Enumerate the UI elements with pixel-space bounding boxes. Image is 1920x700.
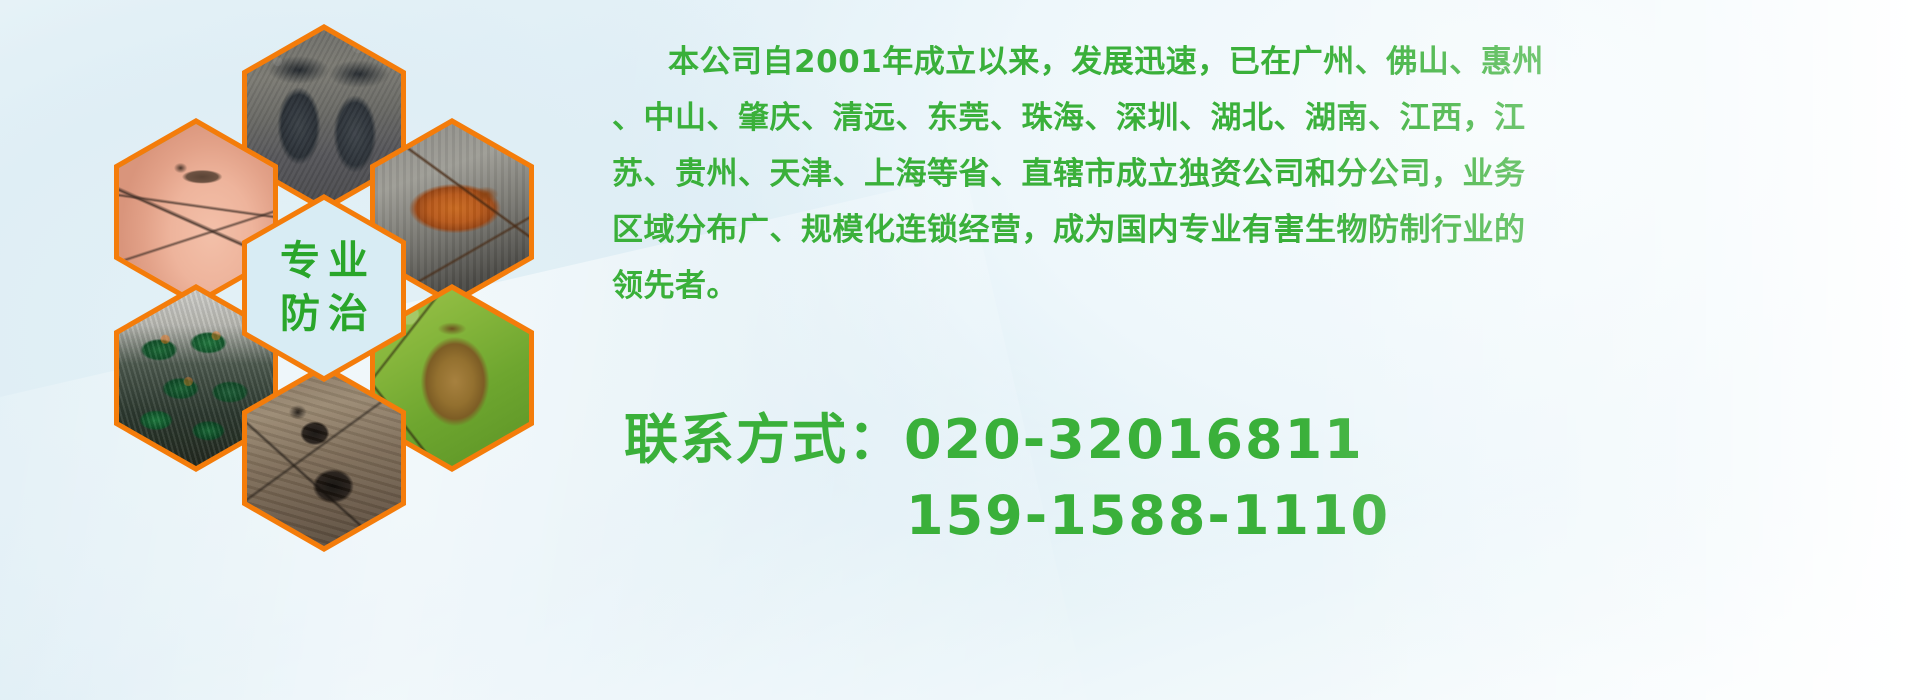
about-line-5: 领先者。	[612, 258, 1912, 314]
contact-block: 联系方式：020-32016811 159-1588-1110	[624, 402, 1804, 554]
pest-control-banner: 专业 防治 本公司自2001年成立以来，发展迅速，已在广州、佛山、惠州 、中山、…	[0, 0, 1920, 700]
about-line-4: 区域分布广、规模化连锁经营，成为国内专业有害生物防制行业的	[612, 202, 1912, 258]
hexagon-photo-collage: 专业 防治	[88, 8, 588, 568]
company-description: 本公司自2001年成立以来，发展迅速，已在广州、佛山、惠州 、中山、肇庆、清远、…	[612, 34, 1912, 314]
contact-landline[interactable]: 联系方式：020-32016811	[624, 402, 1804, 478]
about-line-3: 苏、贵州、天津、上海等省、直辖市成立独资公司和分公司，业务	[612, 146, 1912, 202]
badge-line-1: 专业	[272, 238, 376, 285]
contact-mobile[interactable]: 159-1588-1110	[624, 478, 1804, 554]
about-line-1: 本公司自2001年成立以来，发展迅速，已在广州、佛山、惠州	[612, 34, 1912, 90]
about-line-2: 、中山、肇庆、清远、东莞、珠海、深圳、湖北、湖南、江西，江	[612, 90, 1912, 146]
badge-line-2: 防治	[272, 291, 376, 338]
ant-image	[247, 370, 401, 546]
